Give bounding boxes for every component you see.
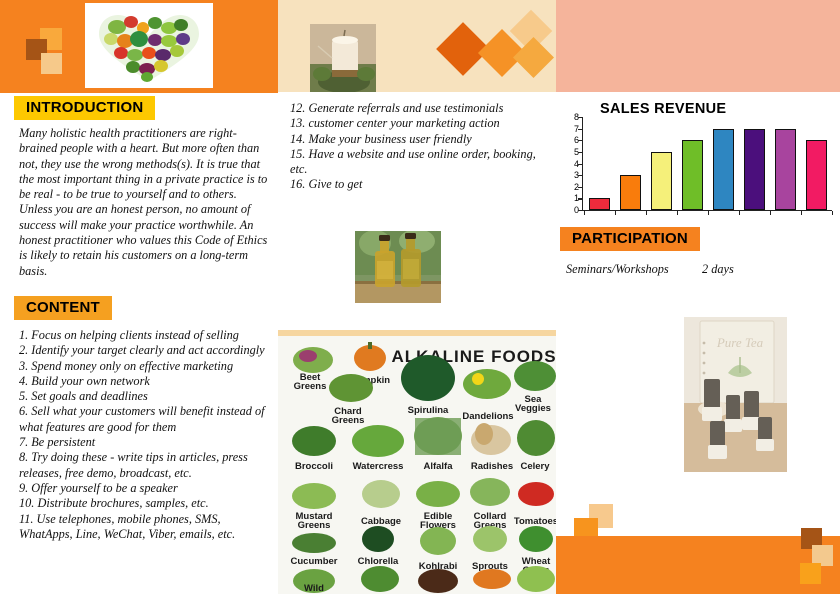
participation-duration: 2 days: [702, 262, 734, 277]
content-list: 1. Focus on helping clients instead of s…: [19, 328, 275, 542]
alkaline-foods-icon: ALKALINE FOODS BeetGreens Pumpkin ChardG…: [278, 336, 556, 594]
candle-image: [310, 24, 376, 92]
introduction-heading: INTRODUCTION: [14, 96, 155, 120]
chart-bar: [651, 152, 672, 210]
chart-bar: [713, 129, 734, 210]
svg-text:Tomatoes: Tomatoes: [514, 516, 556, 527]
chart-y-tick-mark: [578, 117, 582, 118]
essential-oil-bottles-image: Pure Tea: [684, 317, 787, 472]
oil-bottles-image: [355, 231, 441, 303]
alkaline-foods-poster: ALKALINE FOODS BeetGreens Pumpkin ChardG…: [278, 336, 556, 594]
middle-column: 12. Generate referrals and use testimoni…: [278, 93, 556, 594]
vegetable-heart-icon: [85, 3, 213, 88]
list-item: 15. Have a website and use online order,…: [290, 147, 540, 178]
chart-x-tick-mark: [584, 211, 585, 215]
content-list-continued: 12. Generate referrals and use testimoni…: [290, 101, 540, 193]
list-item: 8. Try doing these - write tips in artic…: [19, 450, 275, 481]
chart-y-tick-mark: [578, 129, 582, 130]
chart-bar: [620, 175, 641, 210]
footer-square-amber: [800, 563, 821, 584]
svg-text:Greens: Greens: [298, 520, 331, 531]
list-item: 9. Offer yourself to be a speaker: [19, 481, 275, 496]
chart-y-tick-mark: [578, 140, 582, 141]
svg-text:Chlorella: Chlorella: [358, 556, 399, 567]
list-item: 2. Identify your target clearly and act …: [19, 343, 275, 358]
svg-text:Cabbage: Cabbage: [361, 516, 401, 527]
svg-text:Cucumber: Cucumber: [291, 556, 338, 567]
list-item: 7. Be persistent: [19, 435, 275, 450]
participation-activity: Seminars/Workshops: [566, 262, 669, 277]
chart-bar: [775, 129, 796, 210]
list-item: 14. Make your business user friendly: [290, 132, 540, 147]
svg-text:Watercress: Watercress: [353, 461, 404, 472]
svg-text:Greens: Greens: [294, 381, 327, 392]
chart-x-axis-line: [582, 210, 832, 211]
chart-y-tick-mark: [578, 164, 582, 165]
list-item: 16. Give to get: [290, 177, 540, 192]
chart-bar: [589, 198, 610, 210]
top-banner: [0, 0, 840, 92]
chart-title: SALES REVENUE: [600, 101, 726, 117]
introduction-paragraph: Many holistic health practitioners are r…: [19, 126, 273, 279]
content-heading-wrap: CONTENT: [14, 296, 112, 320]
footer-bar: [556, 536, 840, 594]
chart-bar: [682, 140, 703, 210]
list-item: 1. Focus on helping clients instead of s…: [19, 328, 275, 343]
svg-text:Spirulina: Spirulina: [408, 405, 449, 416]
list-item: 13. customer center your marketing actio…: [290, 116, 540, 131]
svg-text:Broccoli: Broccoli: [295, 461, 333, 472]
svg-text:Celery: Celery: [520, 461, 550, 472]
left-column: INTRODUCTION Many holistic health practi…: [0, 93, 278, 594]
chart-x-tick-mark: [646, 211, 647, 215]
list-item: 6. Sell what your customers will benefit…: [19, 404, 275, 435]
chart-x-tick-mark: [770, 211, 771, 215]
list-item: 5. Set goals and deadlines: [19, 389, 275, 404]
participation-heading: PARTICIPATION: [560, 227, 700, 251]
chart-bar: [744, 129, 765, 210]
chart-x-tick-mark: [739, 211, 740, 215]
decor-square-tan: [41, 53, 62, 74]
svg-text:Radishes: Radishes: [471, 461, 513, 472]
svg-text:Alfalfa: Alfalfa: [423, 461, 453, 472]
list-item: 11. Use telephones, mobile phones, SMS, …: [19, 512, 275, 543]
sales-revenue-chart: 012345678: [560, 117, 834, 217]
chart-y-tick-mark: [578, 152, 582, 153]
chart-plot-area: [584, 117, 832, 210]
chart-x-tick-mark: [832, 211, 833, 215]
list-item: 12. Generate referrals and use testimoni…: [290, 101, 540, 116]
content-heading: CONTENT: [14, 296, 112, 320]
svg-text:Dandelions: Dandelions: [462, 411, 513, 422]
essential-oils-icon: Pure Tea: [684, 317, 787, 472]
svg-text:Greens: Greens: [332, 415, 365, 426]
list-item: 3. Spend money only on effective marketi…: [19, 359, 275, 374]
banner-right-panel: [556, 0, 840, 92]
brochure-page: INTRODUCTION Many holistic health practi…: [0, 0, 840, 594]
chart-y-tick-mark: [578, 175, 582, 176]
list-item: 4. Build your own network: [19, 374, 275, 389]
introduction-heading-wrap: INTRODUCTION: [14, 96, 155, 120]
chart-x-tick-mark: [708, 211, 709, 215]
chart-x-tick-mark: [615, 211, 616, 215]
chart-bar: [806, 140, 827, 210]
right-column: SALES REVENUE 012345678 PARTICIPATION Se…: [556, 93, 840, 594]
chart-x-tick-mark: [677, 211, 678, 215]
chart-x-tick-mark: [801, 211, 802, 215]
oil-bottles-icon: [355, 231, 441, 303]
svg-text:Wild: Wild: [304, 583, 324, 594]
vegetable-heart-image: [85, 3, 213, 88]
chart-y-tick-mark: [578, 210, 582, 211]
chart-y-tick-mark: [578, 187, 582, 188]
participation-heading-wrap: PARTICIPATION: [560, 227, 700, 251]
svg-text:Veggies: Veggies: [515, 403, 551, 414]
chart-y-tick-mark: [578, 198, 582, 199]
candle-icon: [310, 24, 376, 92]
list-item: 10. Distribute brochures, samples, etc.: [19, 496, 275, 511]
